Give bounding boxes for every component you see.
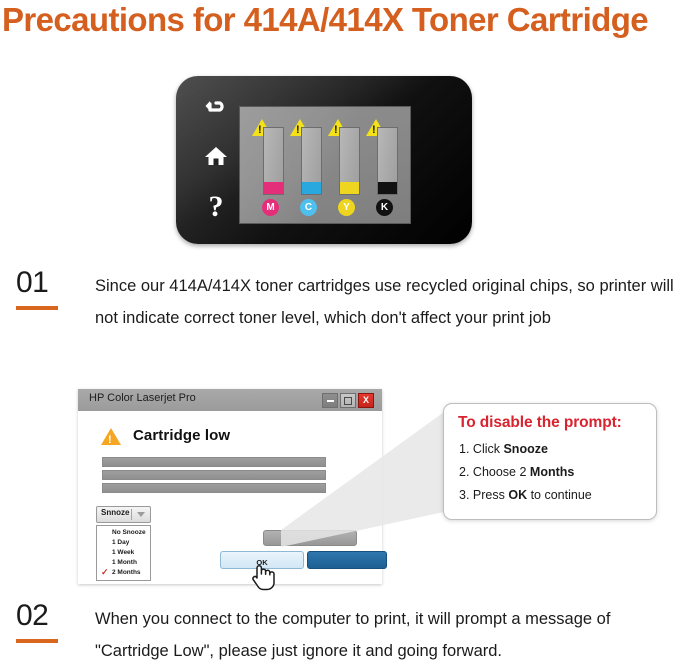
dialog-title: HP Color Laserjet Pro [89,392,196,404]
minimize-icon [327,400,334,402]
callout-step-num: 2. [459,465,469,479]
step-01: 01 Since our 414A/414X toner cartridges … [16,268,58,310]
snooze-option-label: 2 Months [112,569,141,576]
maximize-icon [344,397,352,405]
maximize-button[interactable] [340,393,356,408]
help-icon[interactable]: ? [198,191,234,223]
toner-fill-yellow [340,182,359,194]
printer-control-panel: ? ! M ! C ! Y [176,76,472,244]
page-title: Precautions for 414A/414X Toner Cartridg… [2,0,679,42]
snooze-option-label: 1 Day [112,539,129,546]
toner-bar [263,127,284,195]
toner-label-yellow: Y [338,199,355,216]
callout-step-post: to continue [527,488,592,502]
toner-label-magenta: M [262,199,279,216]
warning-exclamation: ! [334,125,338,136]
toner-label-black: K [376,199,393,216]
snooze-dropdown-button[interactable]: Snnoze [96,506,151,523]
placeholder-text-bar [102,457,326,467]
callout-step-pre: Choose 2 [469,465,529,479]
minimize-button[interactable] [322,393,338,408]
warning-exclamation: ! [296,125,300,136]
snooze-option-no-snooze[interactable]: No Snooze [97,528,150,537]
snooze-option-1-day[interactable]: 1 Day [97,538,150,547]
warning-exclamation: ! [108,435,112,446]
toner-fill-cyan [302,182,321,194]
callout-box: To disable the prompt: 1. Click Snooze 2… [443,403,657,520]
toner-fill-magenta [264,182,283,194]
callout-step-num: 3. [459,488,469,502]
callout-step-num: 1. [459,442,469,456]
callout-step-1: 1. Click Snooze [459,442,548,456]
snooze-option-label: No Snooze [112,529,146,536]
toner-gauge-black: ! K [368,117,404,217]
snooze-option-label: 1 Month [112,559,137,566]
step-rule [16,306,58,310]
toner-gauge-yellow: ! Y [330,117,366,217]
toner-bar [301,127,322,195]
step-text: When you connect to the computer to prin… [95,603,675,667]
callout-step-bold: OK [508,488,527,502]
step-text: Since our 414A/414X toner cartridges use… [95,270,675,334]
placeholder-button-bar [263,530,357,546]
snooze-dropdown-menu[interactable]: No Snooze 1 Day 1 Week 1 Month ✓ 2 Month… [96,525,151,581]
warning-exclamation: ! [372,125,376,136]
snooze-dropdown-label: Snnoze [101,508,129,517]
callout-step-2: 2. Choose 2 Months [459,465,574,479]
snooze-divider [131,509,132,520]
chevron-down-icon [137,512,145,517]
toner-gauge-magenta: ! M [254,117,290,217]
callout-step-pre: Click [469,442,503,456]
check-icon: ✓ [101,568,109,577]
callout-step-bold: Months [530,465,574,479]
hand-cursor-icon [250,561,276,591]
step-number: 01 [16,268,58,298]
callout-step-pre: Press [469,488,508,502]
placeholder-text-bar [102,483,326,493]
toner-fill-black [378,182,397,194]
toner-bar [377,127,398,195]
step-number: 02 [16,601,58,631]
step-rule [16,639,58,643]
dialog-heading: Cartridge low [133,427,230,444]
toner-gauge-cyan: ! C [292,117,328,217]
snooze-option-1-month[interactable]: 1 Month [97,558,150,567]
cartridge-low-dialog: HP Color Laserjet Pro X ! Cartridge low … [78,389,382,584]
secondary-button[interactable] [307,551,387,569]
toner-bar [339,127,360,195]
placeholder-text-bar [102,470,326,480]
toner-label-cyan: C [300,199,317,216]
snooze-option-label: 1 Week [112,549,134,556]
warning-exclamation: ! [258,125,262,136]
back-arrow-icon[interactable] [198,98,234,130]
close-button[interactable]: X [358,393,374,408]
printer-screen: ! M ! C ! Y ! [239,106,411,224]
callout-step-bold: Snooze [503,442,547,456]
snooze-option-2-months[interactable]: ✓ 2 Months [97,568,150,577]
step-02: 02 When you connect to the computer to p… [16,601,58,643]
home-icon[interactable] [198,144,234,176]
snooze-option-1-week[interactable]: 1 Week [97,548,150,557]
callout-step-3: 3. Press OK to continue [459,488,592,502]
callout-title: To disable the prompt: [458,414,622,432]
